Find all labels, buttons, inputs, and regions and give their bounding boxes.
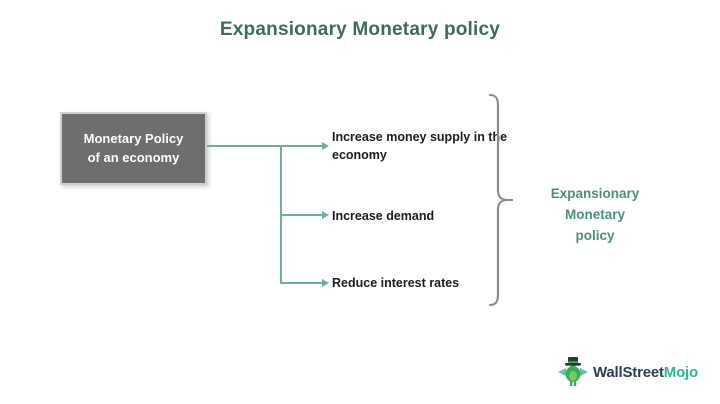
arrowhead-2-icon [322,211,329,219]
logo-text-mojo: Mojo [664,364,698,381]
result-label: Expansionary Monetary policy [530,184,660,247]
arrowhead-1-icon [322,142,329,150]
box-line-1: Monetary Policy [84,130,184,149]
grouping-brace-icon [487,92,513,308]
box-line-2: of an economy [84,149,184,168]
monetary-policy-box-text: Monetary Policy of an economy [80,130,188,168]
result-line-3: policy [530,226,660,247]
diagram-canvas: Expansionary Monetary policy Monetary Po… [0,0,720,404]
connector-branch-3 [280,282,324,284]
arrowhead-3-icon [322,279,329,287]
result-line-1: Expansionary [530,184,660,205]
logo-wordmark: WallStreetMojo [593,364,698,381]
branch-label-3: Reduce interest rates [332,274,512,292]
bull-mascot-icon [556,355,590,389]
wallstreetmojo-logo: WallStreetMojo [556,355,696,389]
branch-label-2: Increase demand [332,207,512,225]
connector-branch-1 [280,145,324,147]
logo-text-wallstreet: WallStreet [593,364,664,381]
branch-label-1: Increase money supply in the economy [332,128,512,164]
connector-branch-2 [280,214,324,216]
page-title: Expansionary Monetary policy [0,19,720,41]
connector-stem [207,145,282,147]
result-line-2: Monetary [530,205,660,226]
monetary-policy-box: Monetary Policy of an economy [60,112,207,185]
